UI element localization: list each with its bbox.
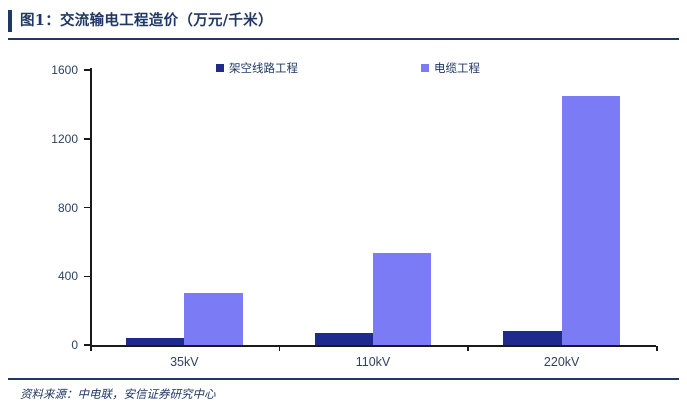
header-accent-bar (8, 10, 12, 32)
figure-footer: 资料来源：中电联，安信证券研究中心 (0, 378, 687, 413)
chart-panel: 架空线路工程电缆工程 040080012001600 35kV110kV220k… (0, 40, 687, 373)
bar-架空线路工程-110kV[interactable] (315, 333, 373, 345)
figure-title: 图1：交流输电工程造价（万元/千米） (20, 9, 273, 30)
y-axis-tick-label: 1600 (32, 63, 78, 77)
x-axis-separator (467, 346, 469, 351)
y-axis-tick-label: 0 (32, 338, 78, 352)
y-axis-tick-label: 800 (32, 201, 78, 215)
x-axis-separator (279, 346, 281, 351)
y-axis-tick-label: 400 (32, 269, 78, 283)
x-axis-tick-label: 220kV (544, 355, 579, 369)
plot-area: 040080012001600 35kV110kV220kV (0, 40, 687, 373)
y-axis-tick (84, 207, 91, 209)
source-note: 资料来源：中电联，安信证券研究中心 (20, 386, 216, 402)
x-axis-separator (656, 346, 658, 351)
y-axis-tick-label: 1200 (32, 132, 78, 146)
y-axis-tick (84, 69, 91, 71)
x-axis-separator (90, 346, 92, 351)
y-axis-tick (84, 138, 91, 140)
bar-架空线路工程-35kV[interactable] (126, 338, 184, 345)
footer-divider (8, 378, 679, 380)
figure-header: 图1：交流输电工程造价（万元/千米） (0, 8, 687, 38)
bar-电缆工程-110kV[interactable] (373, 253, 431, 345)
bar-架空线路工程-220kV[interactable] (503, 331, 561, 345)
y-axis-tick (84, 276, 91, 278)
x-axis-tick-label: 110kV (356, 355, 391, 369)
x-axis-line (90, 345, 656, 347)
x-axis-tick-label: 35kV (170, 355, 199, 369)
bar-电缆工程-220kV[interactable] (562, 96, 620, 345)
bar-电缆工程-35kV[interactable] (184, 293, 242, 345)
